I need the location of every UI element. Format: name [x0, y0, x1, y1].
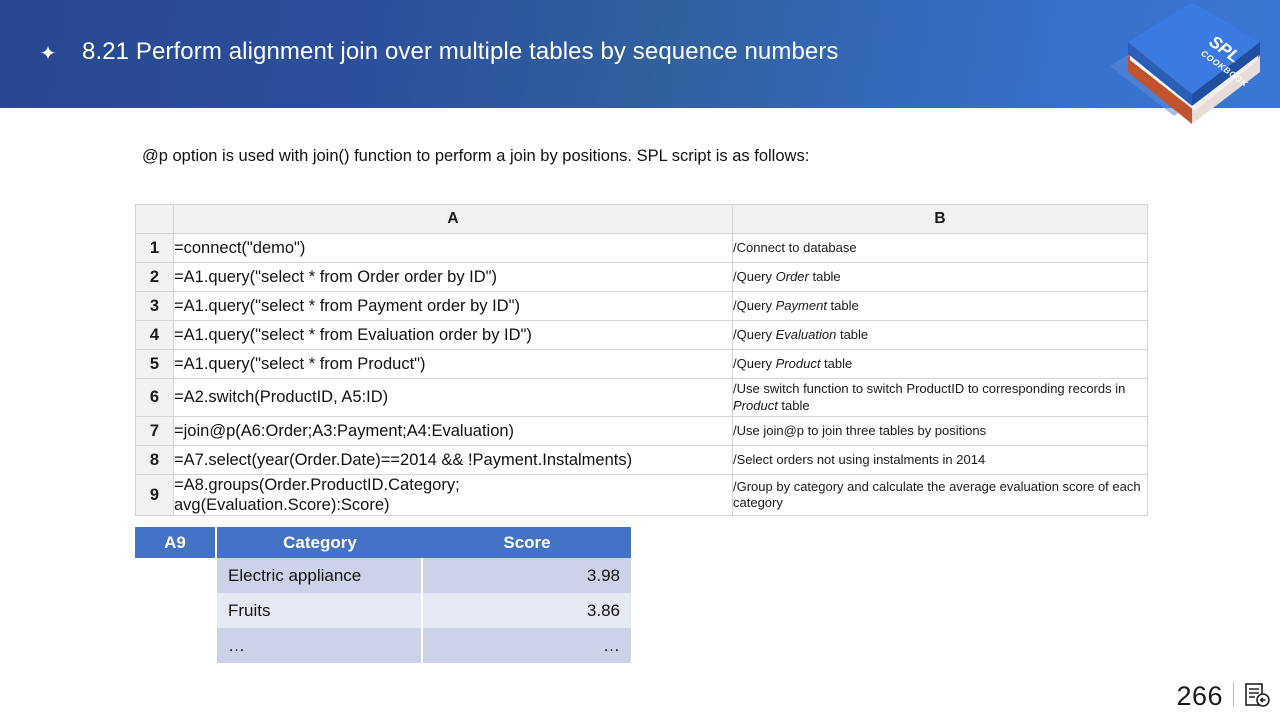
cell-a: =connect("demo")	[174, 234, 733, 263]
comment-text-suffix: table	[836, 327, 868, 342]
table-row: 9=A8.groups(Order.ProductID.Category; av…	[136, 475, 1148, 516]
comment-text: /Query	[733, 298, 776, 313]
cell-b: /Use join@p to join three tables by posi…	[733, 417, 1148, 446]
result-table: A9 Category Score Electric appliance3.98…	[135, 527, 641, 663]
comment-text: /Query	[733, 356, 776, 371]
cell-b: /Query Order table	[733, 263, 1148, 292]
row-number-cell: 7	[136, 417, 174, 446]
row-number-cell: 5	[136, 350, 174, 379]
result-row: Fruits3.86	[217, 593, 641, 628]
document-back-icon	[1242, 680, 1272, 710]
table-name-emphasis: Evaluation	[776, 327, 837, 342]
result-row: ……	[217, 628, 641, 663]
table-name-emphasis: Product	[776, 356, 821, 371]
comment-text: /Select orders not using instalments in …	[733, 452, 985, 467]
result-table-header: A9 Category Score	[135, 527, 641, 558]
result-cell-category: Fruits	[217, 593, 423, 628]
table-row: 2=A1.query("select * from Order order by…	[136, 263, 1148, 292]
cell-a: =A1.query("select * from Product")	[174, 350, 733, 379]
row-number-cell: 3	[136, 292, 174, 321]
result-column-header-score: Score	[423, 527, 631, 558]
spl-cookbook-book-icon: SPL COOKBOOK	[1100, 4, 1280, 130]
cell-b: /Query Payment table	[733, 292, 1148, 321]
row-number-cell: 8	[136, 446, 174, 475]
table-row: 7=join@p(A6:Order;A3:Payment;A4:Evaluati…	[136, 417, 1148, 446]
comment-text: /Use switch function to switch ProductID…	[733, 381, 1125, 396]
cell-a: =A8.groups(Order.ProductID.Category; avg…	[174, 475, 733, 516]
cell-b: /Connect to database	[733, 234, 1148, 263]
cell-b: /Use switch function to switch ProductID…	[733, 379, 1148, 417]
result-cell-score: 3.86	[423, 593, 631, 628]
result-row: Electric appliance3.98	[217, 558, 641, 593]
comment-text-suffix: table	[778, 398, 810, 413]
table-row: 8=A7.select(year(Order.Date)==2014 && !P…	[136, 446, 1148, 475]
comment-text: /Query	[733, 269, 776, 284]
table-name-emphasis: Product	[733, 398, 778, 413]
table-row: 3=A1.query("select * from Payment order …	[136, 292, 1148, 321]
page-title: 8.21 Perform alignment join over multipl…	[82, 38, 839, 66]
spl-code-table: A B 1=connect("demo")/Connect to databas…	[135, 204, 1148, 516]
table-row: 4=A1.query("select * from Evaluation ord…	[136, 321, 1148, 350]
cell-a: =A2.switch(ProductID, A5:ID)	[174, 379, 733, 417]
result-cell-label: A9	[135, 527, 215, 558]
comment-text-suffix: table	[820, 356, 852, 371]
result-cell-category: Electric appliance	[217, 558, 423, 593]
column-header-blank	[136, 205, 174, 234]
cell-a: =join@p(A6:Order;A3:Payment;A4:Evaluatio…	[174, 417, 733, 446]
row-number-cell: 4	[136, 321, 174, 350]
table-row: 1=connect("demo")/Connect to database	[136, 234, 1148, 263]
cell-b: /Select orders not using instalments in …	[733, 446, 1148, 475]
comment-text-suffix: table	[809, 269, 841, 284]
table-name-emphasis: Payment	[776, 298, 827, 313]
comment-text: /Use join@p to join three tables by posi…	[733, 423, 986, 438]
result-cell-category: …	[217, 628, 423, 663]
intro-paragraph: @p option is used with join() function t…	[142, 147, 1142, 166]
footer-divider	[1233, 682, 1234, 706]
cell-a: =A1.query("select * from Evaluation orde…	[174, 321, 733, 350]
comment-text: /Connect to database	[733, 240, 857, 255]
row-number-cell: 1	[136, 234, 174, 263]
row-number-cell: 2	[136, 263, 174, 292]
result-column-header-category: Category	[217, 527, 423, 558]
four-pointed-star-icon: ✦	[38, 44, 58, 64]
comment-text-suffix: table	[827, 298, 859, 313]
column-header-a: A	[174, 205, 733, 234]
comment-text: /Group by category and calculate the ave…	[733, 479, 1141, 510]
slide: ✦ 8.21 Perform alignment join over multi…	[0, 0, 1280, 720]
result-cell-score: …	[423, 628, 631, 663]
table-row: 5=A1.query("select * from Product")/Quer…	[136, 350, 1148, 379]
cell-b: /Query Evaluation table	[733, 321, 1148, 350]
cell-a: =A1.query("select * from Order order by …	[174, 263, 733, 292]
page-number: 266	[1176, 681, 1223, 712]
comment-text: /Query	[733, 327, 776, 342]
table-name-emphasis: Order	[776, 269, 809, 284]
table-header-row: A B	[136, 205, 1148, 234]
slide-header: ✦ 8.21 Perform alignment join over multi…	[0, 0, 1280, 108]
cell-a: =A7.select(year(Order.Date)==2014 && !Pa…	[174, 446, 733, 475]
result-cell-score: 3.98	[423, 558, 631, 593]
column-header-b: B	[733, 205, 1148, 234]
cell-a: =A1.query("select * from Payment order b…	[174, 292, 733, 321]
cell-b: /Query Product table	[733, 350, 1148, 379]
table-row: 6=A2.switch(ProductID, A5:ID)/Use switch…	[136, 379, 1148, 417]
cell-b: /Group by category and calculate the ave…	[733, 475, 1148, 516]
row-number-cell: 6	[136, 379, 174, 417]
row-number-cell: 9	[136, 475, 174, 516]
